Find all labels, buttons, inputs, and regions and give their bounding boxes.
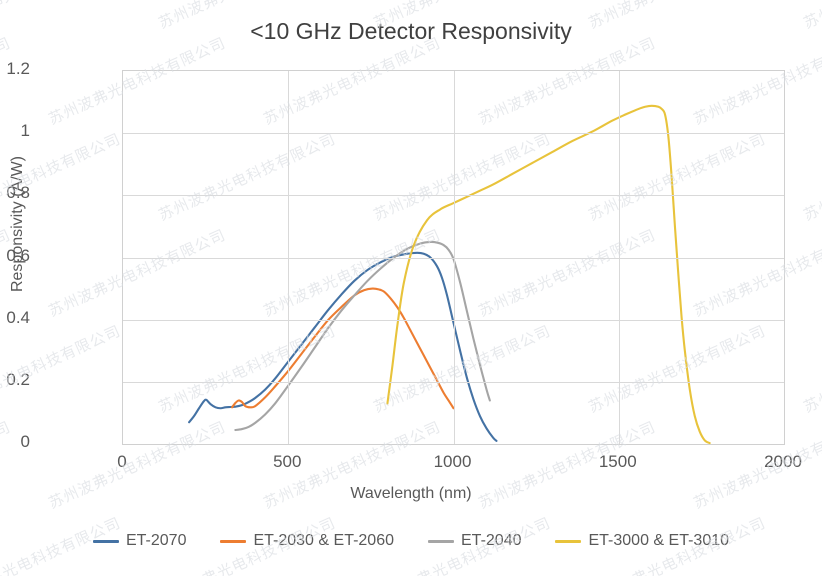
legend-label: ET-2040 — [461, 532, 521, 550]
legend-color-swatch — [555, 540, 581, 543]
legend-item[interactable]: ET-2040 — [428, 532, 521, 550]
y-axis-tick-label: 0 — [0, 432, 30, 452]
chart-container: 苏州波弗光电科技有限公司苏州波弗光电科技有限公司苏州波弗光电科技有限公司苏州波弗… — [0, 0, 822, 576]
gridline-vertical — [619, 71, 620, 444]
legend-item[interactable]: ET-2030 & ET-2060 — [220, 532, 394, 550]
x-axis-tick-label: 0 — [87, 452, 157, 472]
x-axis-title: Wavelength (nm) — [0, 485, 822, 503]
chart-legend: ET-2070ET-2030 & ET-2060ET-2040ET-3000 &… — [0, 532, 822, 550]
y-axis-tick-label: 1 — [0, 121, 30, 141]
x-axis-tick-label: 2000 — [748, 452, 818, 472]
legend-label: ET-2030 & ET-2060 — [253, 532, 394, 550]
x-axis-tick-label: 1000 — [418, 452, 488, 472]
legend-label: ET-2070 — [126, 532, 186, 550]
y-axis-tick-label: 0.2 — [0, 370, 30, 390]
watermark-text: 苏州波弗光电科技有限公司 — [0, 320, 124, 417]
series-line — [189, 253, 496, 441]
x-axis-tick-label: 1500 — [583, 452, 653, 472]
y-axis-title: Responsivity (A/W) — [9, 114, 27, 334]
y-axis-tick-label: 0.4 — [0, 308, 30, 328]
legend-color-swatch — [428, 540, 454, 543]
legend-item[interactable]: ET-3000 & ET-3010 — [555, 532, 729, 550]
x-axis-tick-label: 500 — [252, 452, 322, 472]
series-line — [387, 106, 709, 443]
gridline-vertical — [454, 71, 455, 444]
gridline-vertical — [288, 71, 289, 444]
legend-color-swatch — [220, 540, 246, 543]
watermark-text: 苏州波弗光电科技有限公司 — [800, 320, 822, 417]
plot-area — [122, 70, 785, 445]
legend-color-swatch — [93, 540, 119, 543]
y-axis-tick-label: 1.2 — [0, 59, 30, 79]
chart-title: <10 GHz Detector Responsivity — [0, 18, 822, 45]
series-line — [235, 242, 489, 430]
legend-item[interactable]: ET-2070 — [93, 532, 186, 550]
y-axis-tick-label: 0.8 — [0, 183, 30, 203]
y-axis-tick-label: 0.6 — [0, 246, 30, 266]
legend-label: ET-3000 & ET-3010 — [588, 532, 729, 550]
watermark-text: 苏州波弗光电科技有限公司 — [800, 128, 822, 225]
